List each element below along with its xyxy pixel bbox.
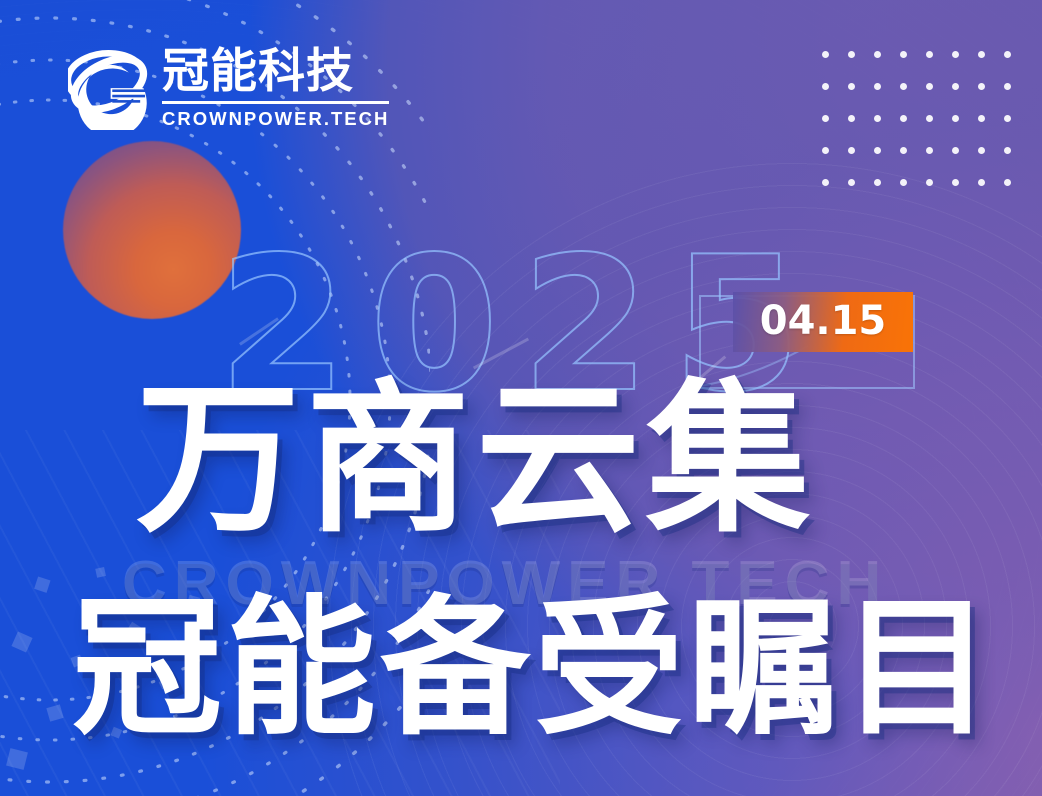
decor-gradient-sphere <box>63 141 241 319</box>
date-badge-label: 04.15 <box>760 298 887 344</box>
headline-line-2: 冠能备受瞩目 <box>72 594 996 744</box>
brand-divider <box>162 101 389 104</box>
brand-name-en: CROWNPOWER.TECH <box>162 108 389 130</box>
headline-line-1: 万商云集 <box>136 378 816 542</box>
brand-name-cn: 冠能科技 <box>162 48 389 96</box>
promo-banner: 2025 04.15 CROWNPOWER TECH 万商云集 冠能备受瞩目 <box>0 0 1042 796</box>
decor-dot-grid <box>812 38 1020 198</box>
crownpower-g-globe-icon <box>68 48 150 130</box>
brand-logo: 冠能科技 CROWNPOWER.TECH <box>68 48 389 130</box>
date-badge: 04.15 <box>733 292 913 352</box>
